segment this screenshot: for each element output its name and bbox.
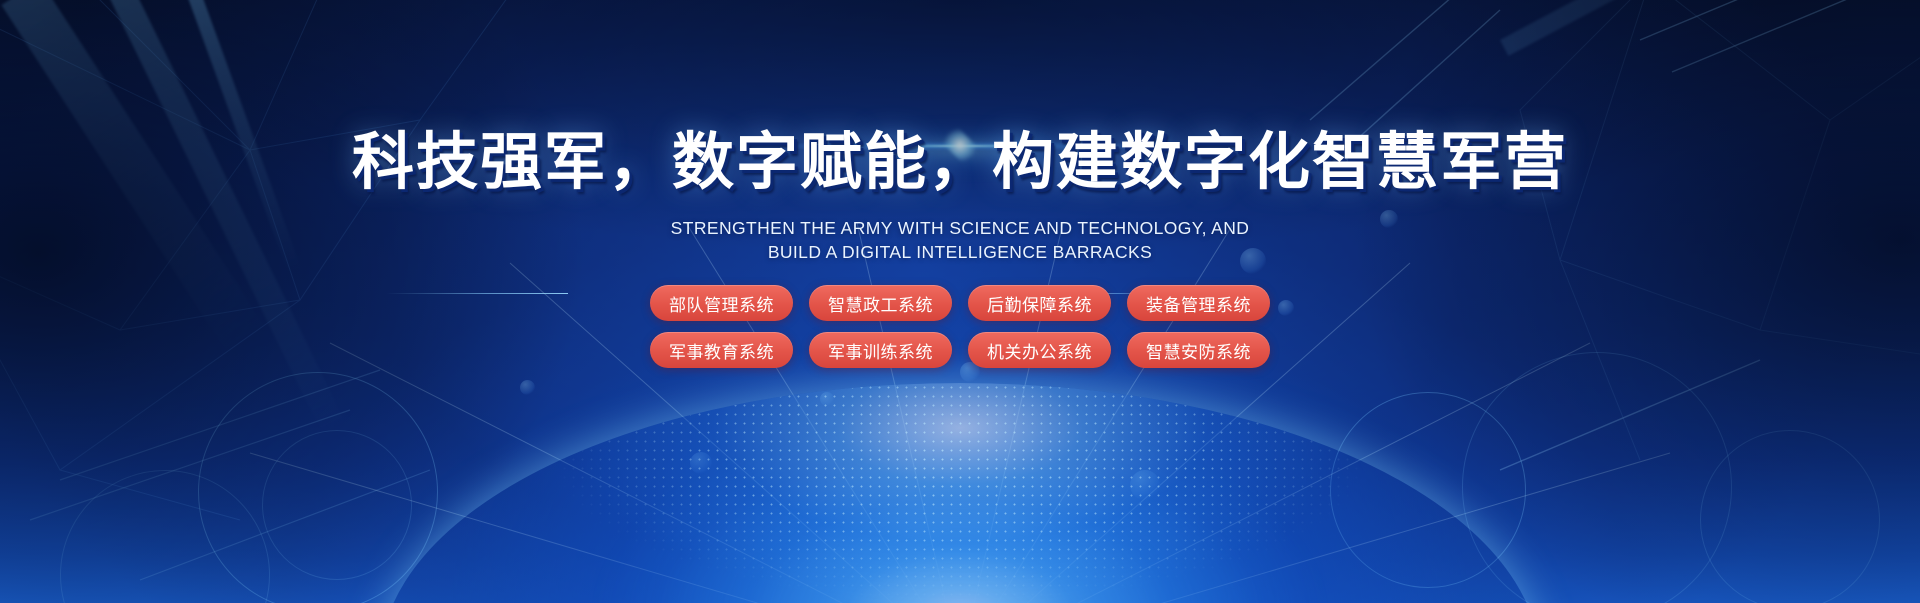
banner-content: 科技强军，数字赋能，构建数字化智慧军营 STRENGTHEN THE ARMY … xyxy=(0,0,1920,603)
hero-banner: 科技强军，数字赋能，构建数字化智慧军营 STRENGTHEN THE ARMY … xyxy=(0,0,1920,603)
page-title: 科技强军，数字赋能，构建数字化智慧军营 xyxy=(352,132,1568,194)
tag-equipment-management-system[interactable]: 装备管理系统 xyxy=(1127,285,1270,321)
tag-logistics-support-system[interactable]: 后勤保障系统 xyxy=(968,285,1111,321)
subtitle-line-2: BUILD A DIGITAL INTELLIGENCE BARRACKS xyxy=(671,240,1250,264)
system-tag-group: 部队管理系统 智慧政工系统 后勤保障系统 装备管理系统 军事教育系统 军事训练系… xyxy=(650,285,1270,368)
system-tag-row-1: 部队管理系统 智慧政工系统 后勤保障系统 装备管理系统 xyxy=(650,285,1270,321)
tag-unit-management-system[interactable]: 部队管理系统 xyxy=(650,285,793,321)
tag-office-administration-system[interactable]: 机关办公系统 xyxy=(968,332,1111,368)
tag-smart-security-system[interactable]: 智慧安防系统 xyxy=(1127,332,1270,368)
tag-military-education-system[interactable]: 军事教育系统 xyxy=(650,332,793,368)
tag-military-training-system[interactable]: 军事训练系统 xyxy=(809,332,952,368)
system-tag-row-2: 军事教育系统 军事训练系统 机关办公系统 智慧安防系统 xyxy=(650,332,1270,368)
tag-smart-political-work-system[interactable]: 智慧政工系统 xyxy=(809,285,952,321)
subtitle-line-1: STRENGTHEN THE ARMY WITH SCIENCE AND TEC… xyxy=(671,216,1250,240)
subtitle: STRENGTHEN THE ARMY WITH SCIENCE AND TEC… xyxy=(671,216,1250,264)
